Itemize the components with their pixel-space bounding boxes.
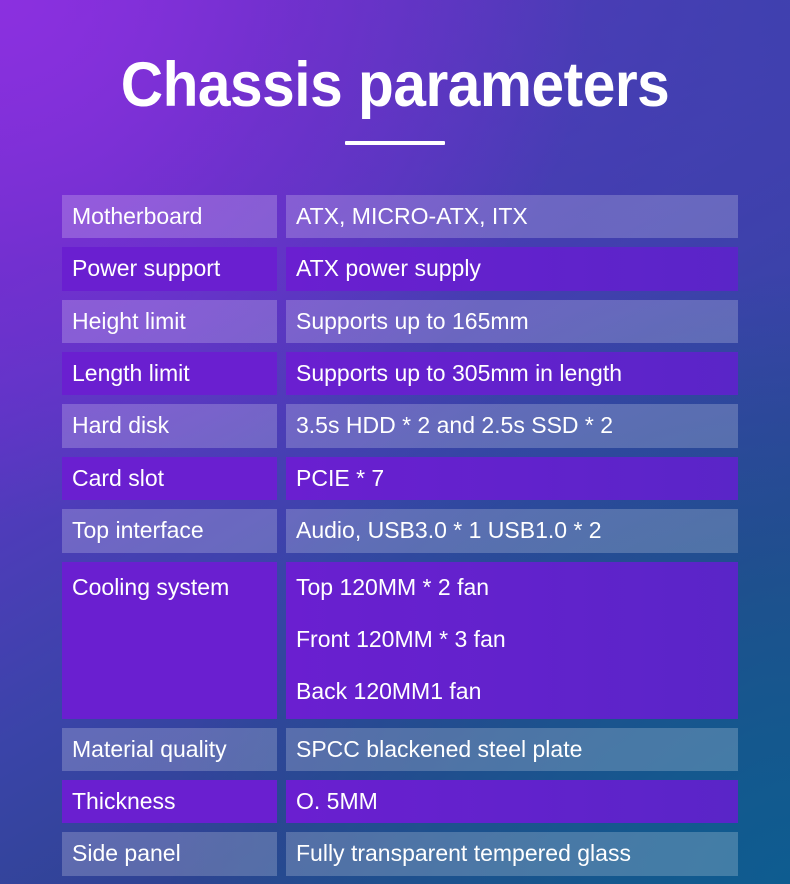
- spec-label-cell: Hard disk: [62, 404, 277, 447]
- spec-value-cell: PCIE * 7: [286, 457, 738, 500]
- table-row: Card slotPCIE * 7: [62, 457, 738, 500]
- spec-label-cell: Thickness: [62, 780, 277, 823]
- spec-value-line: Back 120MM1 fan: [296, 676, 738, 706]
- spec-value-cell: ATX power supply: [286, 247, 738, 290]
- spec-value-cell: SPCC blackened steel plate: [286, 728, 738, 771]
- spec-label-cell: Material quality: [62, 728, 277, 771]
- spec-value-cell: Audio, USB3.0 * 1 USB1.0 * 2: [286, 509, 738, 552]
- spec-value-cell: Supports up to 165mm: [286, 300, 738, 343]
- table-row: Length limitSupports up to 305mm in leng…: [62, 352, 738, 395]
- title-block: Chassis parameters: [0, 52, 790, 145]
- spec-label-cell: Card slot: [62, 457, 277, 500]
- spec-label-cell: Side panel: [62, 832, 277, 875]
- spec-value-cell: ATX, MICRO-ATX, ITX: [286, 195, 738, 238]
- spec-label-cell: Length limit: [62, 352, 277, 395]
- spec-sheet-page: Chassis parameters MotherboardATX, MICRO…: [0, 0, 790, 884]
- specification-table: MotherboardATX, MICRO-ATX, ITXPower supp…: [62, 195, 738, 876]
- spec-label-cell: Motherboard: [62, 195, 277, 238]
- page-title: Chassis parameters: [28, 52, 763, 118]
- spec-value-cell: 3.5s HDD * 2 and 2.5s SSD * 2: [286, 404, 738, 447]
- spec-value-line: Top 120MM * 2 fan: [296, 572, 738, 602]
- spec-label-cell: Power support: [62, 247, 277, 290]
- table-row: Hard disk3.5s HDD * 2 and 2.5s SSD * 2: [62, 404, 738, 447]
- table-row: Power supportATX power supply: [62, 247, 738, 290]
- table-row: Side panelFully transparent tempered gla…: [62, 832, 738, 875]
- spec-label-cell: Height limit: [62, 300, 277, 343]
- table-row: Cooling systemTop 120MM * 2 fanFront 120…: [62, 562, 738, 719]
- spec-value-cell: Top 120MM * 2 fanFront 120MM * 3 fanBack…: [286, 562, 738, 719]
- title-divider-rule: [345, 141, 445, 145]
- table-row: Height limitSupports up to 165mm: [62, 300, 738, 343]
- spec-value-cell: Supports up to 305mm in length: [286, 352, 738, 395]
- spec-label-cell: Cooling system: [62, 562, 277, 719]
- spec-value-cell: Fully transparent tempered glass: [286, 832, 738, 875]
- spec-value-line: Front 120MM * 3 fan: [296, 624, 738, 654]
- table-row: Top interfaceAudio, USB3.0 * 1 USB1.0 * …: [62, 509, 738, 552]
- spec-value-cell: O. 5MM: [286, 780, 738, 823]
- table-row: MotherboardATX, MICRO-ATX, ITX: [62, 195, 738, 238]
- spec-label-cell: Top interface: [62, 509, 277, 552]
- table-row: ThicknessO. 5MM: [62, 780, 738, 823]
- table-row: Material qualitySPCC blackened steel pla…: [62, 728, 738, 771]
